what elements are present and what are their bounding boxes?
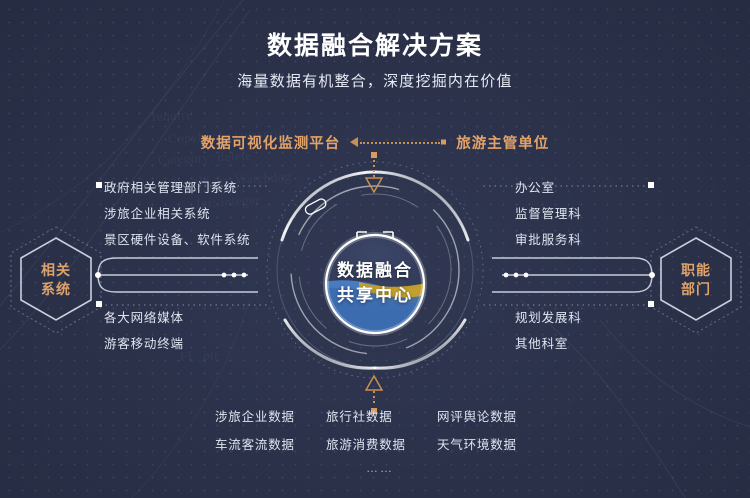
center-label-line2: 共享中心 bbox=[337, 284, 413, 309]
list-item: 规划发展科 bbox=[515, 305, 582, 331]
hexagon-right-line1: 职能 bbox=[681, 261, 711, 280]
list-right-top: 办公室 监督管理科 审批服务科 bbox=[515, 175, 582, 253]
hexagon-right-label: 职能 部门 bbox=[648, 226, 744, 334]
list-item: 其他科室 bbox=[515, 331, 582, 357]
list-left-top: 政府相关管理部门系统 涉旅企业相关系统 景区硬件设备、软件系统 bbox=[104, 175, 250, 253]
data-cell: 车流客流数据 bbox=[215, 431, 323, 459]
data-cell: 天气环境数据 bbox=[437, 431, 545, 459]
data-row: 涉旅企业数据 旅行社数据 网评舆论数据 bbox=[215, 403, 545, 431]
list-item: 涉旅企业相关系统 bbox=[104, 201, 250, 227]
arrow-down-to-center-icon bbox=[358, 152, 390, 196]
hexagon-related-systems[interactable]: 相关 系统 bbox=[8, 226, 104, 334]
hexagon-functional-departments[interactable]: 职能 部门 bbox=[648, 226, 744, 334]
hexagon-left-label: 相关 系统 bbox=[8, 226, 104, 334]
data-cell: 旅行社数据 bbox=[326, 403, 434, 431]
hexagon-right-line2: 部门 bbox=[681, 280, 711, 299]
infographic-canvas: require Copybook: javascript Category: d… bbox=[0, 0, 750, 498]
list-item: 各大网络媒体 bbox=[104, 305, 184, 331]
hexagon-left-line1: 相关 bbox=[41, 261, 71, 280]
list-item: 游客移动终端 bbox=[104, 331, 184, 357]
list-item: 审批服务科 bbox=[515, 227, 582, 253]
data-cell: 涉旅企业数据 bbox=[215, 403, 323, 431]
data-ellipsis: …… bbox=[215, 459, 545, 477]
data-row: 车流客流数据 旅游消费数据 天气环境数据 bbox=[215, 431, 545, 459]
center-label-line1: 数据融合 bbox=[337, 259, 413, 284]
list-item: 监督管理科 bbox=[515, 201, 582, 227]
bottom-data-grid: 涉旅企业数据 旅行社数据 网评舆论数据 车流客流数据 旅游消费数据 天气环境数据… bbox=[215, 403, 545, 477]
center-sphere-label: 数据融合 共享中心 bbox=[311, 230, 439, 338]
data-cell: 网评舆论数据 bbox=[437, 403, 545, 431]
list-item: 办公室 bbox=[515, 175, 582, 201]
list-item: 政府相关管理部门系统 bbox=[104, 175, 250, 201]
list-left-bottom: 各大网络媒体 游客移动终端 bbox=[104, 305, 184, 357]
list-right-bottom: 规划发展科 其他科室 bbox=[515, 305, 582, 357]
hexagon-left-line2: 系统 bbox=[41, 280, 71, 299]
list-item: 景区硬件设备、软件系统 bbox=[104, 227, 250, 253]
data-cell: 旅游消费数据 bbox=[326, 431, 434, 459]
